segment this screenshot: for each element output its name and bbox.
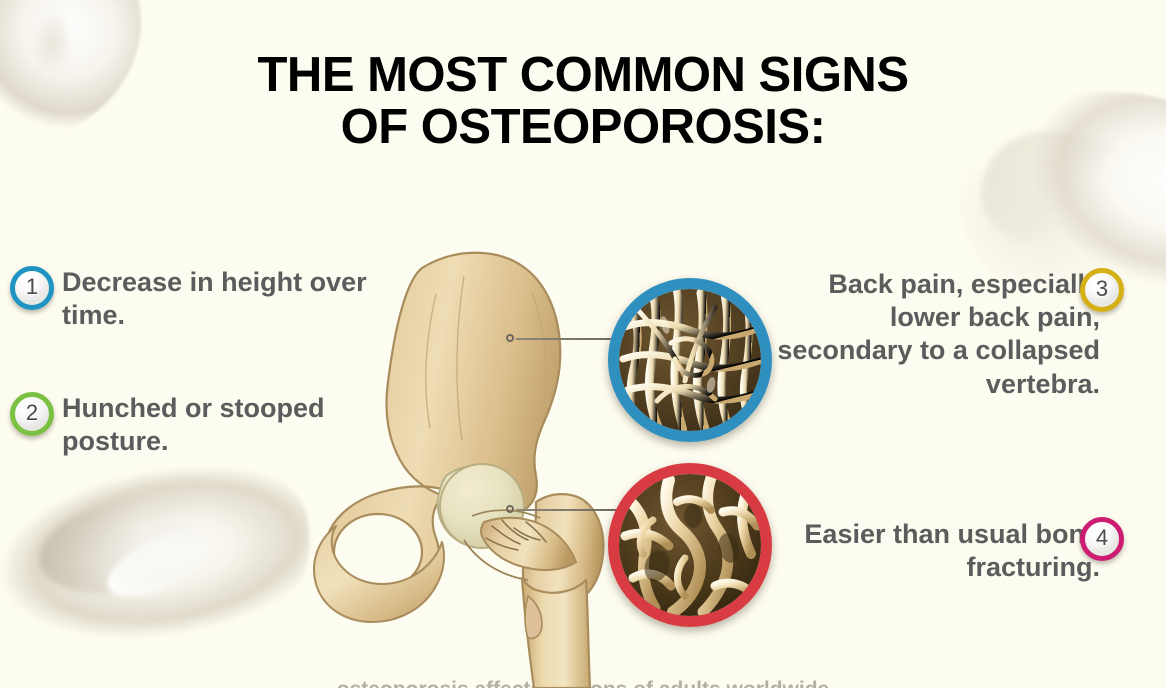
- badge-sign-3: 3: [1080, 268, 1124, 312]
- bone-watermark-bottom-left-icon: [0, 428, 327, 688]
- badge-sign-1: 1: [10, 266, 54, 310]
- page-title-line-2: OF OSTEOPOROSIS:: [0, 102, 1166, 154]
- sign-text-2: Hunched or stooped posture.: [62, 392, 402, 458]
- osteoporosis-infographic: THE MOST COMMON SIGNS OF OSTEOPOROSIS:: [0, 0, 1166, 688]
- badge-number-3: 3: [1096, 276, 1108, 302]
- inset-healthy-bone: [608, 278, 772, 442]
- page-title-line-1: THE MOST COMMON SIGNS: [0, 50, 1166, 102]
- badge-sign-4: 4: [1080, 517, 1124, 561]
- badge-number-2: 2: [26, 400, 38, 426]
- leader-line-porous-bone: [516, 509, 628, 511]
- badge-number-4: 4: [1096, 525, 1108, 551]
- sign-text-1: Decrease in height over time.: [62, 266, 402, 332]
- badge-number-1: 1: [26, 274, 38, 300]
- inset-porous-bone: [608, 463, 772, 627]
- sign-text-4: Easier than usual bone fracturing.: [770, 518, 1100, 584]
- sign-text-3: Back pain, especially lower back pain, s…: [770, 268, 1100, 401]
- badge-sign-2: 2: [10, 392, 54, 436]
- page-title: THE MOST COMMON SIGNS OF OSTEOPOROSIS:: [0, 50, 1166, 154]
